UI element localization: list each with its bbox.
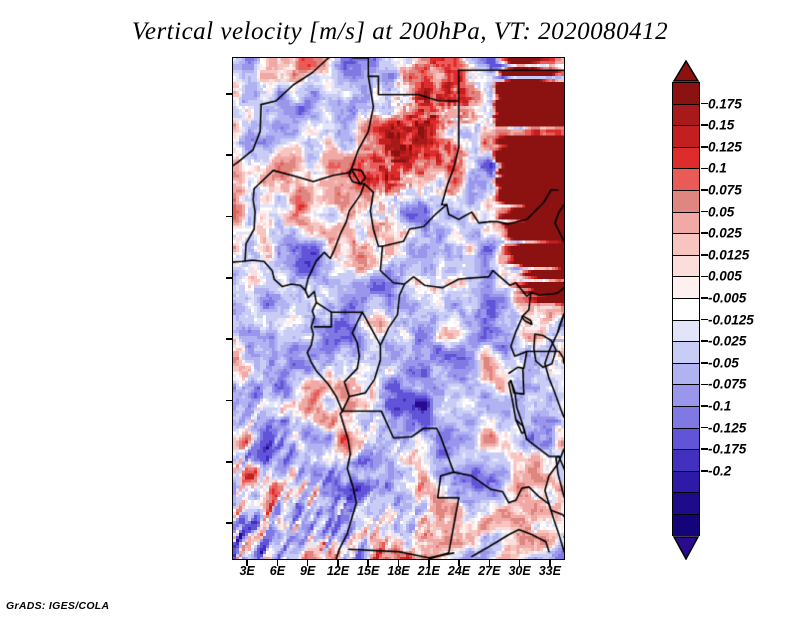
colorbar-tick-label: 0.075: [708, 183, 742, 198]
colorbar-tick-label: -0.005: [708, 291, 746, 306]
x-axis-tick-label: 21E: [418, 564, 440, 578]
x-axis-tick-label: 27E: [478, 564, 500, 578]
colorbar-tick-label: 0.15: [708, 118, 734, 133]
colorbar-tick-mark: [701, 405, 708, 407]
colorbar-tick-mark: [701, 448, 708, 450]
colorbar-tick-mark: [701, 276, 708, 278]
y-axis-tick-mark: [226, 400, 232, 402]
colorbar-tick-mark: [701, 124, 708, 126]
country-borders-overlay: [233, 58, 564, 559]
x-axis-tick-mark: [458, 560, 460, 566]
x-axis-tick-mark: [246, 560, 248, 566]
colorbar-tick-mark: [701, 254, 708, 256]
colorbar-tick-label: 0.05: [708, 204, 734, 219]
y-axis-tick-mark: [226, 93, 232, 95]
colorbar-swatch: [673, 234, 699, 256]
x-axis-tick-mark: [398, 560, 400, 566]
colorbar-tick-mark: [701, 384, 708, 386]
colorbar-swatch: [673, 126, 699, 148]
colorbar-swatch: [673, 450, 699, 472]
x-axis-tick-mark: [428, 560, 430, 566]
colorbar-tick-mark: [701, 427, 708, 429]
colorbar-tick-label: 0.025: [708, 226, 742, 241]
x-axis-tick-label: 6E: [270, 564, 285, 578]
x-axis-tick-label: 30E: [508, 564, 530, 578]
colorbar-swatch: [673, 213, 699, 235]
x-axis-tick-mark: [519, 560, 521, 566]
colorbar-tick-label: 0.175: [708, 96, 742, 111]
colorbar-tick-label: 0.0125: [708, 247, 749, 262]
x-axis-tick-mark: [549, 560, 551, 566]
colorbar-swatch: [673, 472, 699, 494]
colorbar-tick-mark: [701, 470, 708, 472]
colorbar-swatch: [673, 256, 699, 278]
attribution-footer: GrADS: IGES/COLA: [6, 600, 109, 612]
y-axis-tick-mark: [226, 154, 232, 156]
x-axis-tick-label: 3E: [239, 564, 254, 578]
colorbar-swatch: [673, 429, 699, 451]
colorbar-swatch: [673, 321, 699, 343]
colorbar-tick-mark: [701, 232, 708, 234]
colorbar-swatch: [673, 277, 699, 299]
colorbar-tick-mark: [701, 362, 708, 364]
colorbar-swatch: [673, 191, 699, 213]
colorbar-tick-label: -0.05: [708, 355, 739, 370]
colorbar-tick-label: -0.2: [708, 463, 731, 478]
colorbar-swatch: [673, 105, 699, 127]
x-axis-tick-label: 18E: [387, 564, 409, 578]
colorbar-tick-mark: [701, 297, 708, 299]
colorbar-tick-mark: [701, 211, 708, 213]
colorbar-tick-mark: [701, 340, 708, 342]
colorbar-tick-label: -0.175: [708, 442, 746, 457]
colorbar-tick-label: -0.025: [708, 334, 746, 349]
x-axis-tick-mark: [367, 560, 369, 566]
colorbar-swatch: [673, 169, 699, 191]
x-axis-tick-label: 9E: [300, 564, 315, 578]
y-axis-tick-mark: [226, 216, 232, 218]
colorbar-max-arrow: [672, 60, 700, 82]
colorbar-tick-label: -0.075: [708, 377, 746, 392]
colorbar-swatch: [673, 299, 699, 321]
colorbar-swatches: [672, 82, 700, 536]
page-title: Vertical velocity [m/s] at 200hPa, VT: 2…: [0, 18, 800, 46]
colorbar-swatch: [673, 407, 699, 429]
colorbar: [672, 60, 700, 558]
colorbar-tick-label: 0.125: [708, 139, 742, 154]
colorbar-tick-label: 0.005: [708, 269, 742, 284]
y-axis-tick-mark: [226, 522, 232, 524]
colorbar-tick-mark: [701, 103, 708, 105]
y-axis-tick-mark: [226, 338, 232, 340]
colorbar-tick-mark: [701, 319, 708, 321]
colorbar-swatch: [673, 364, 699, 386]
y-axis-tick-mark: [226, 277, 232, 279]
y-axis-tick-mark: [226, 461, 232, 463]
x-axis-tick-label: 12E: [327, 564, 349, 578]
colorbar-tick-mark: [701, 168, 708, 170]
colorbar-tick-mark: [701, 189, 708, 191]
x-axis-tick-mark: [277, 560, 279, 566]
map-plot-area: [232, 57, 565, 560]
colorbar-tick-label: 0.1: [708, 161, 727, 176]
x-axis-tick-label: 15E: [357, 564, 379, 578]
colorbar-tick-label: -0.1: [708, 399, 731, 414]
x-axis-tick-label: 33E: [539, 564, 561, 578]
colorbar-min-arrow: [672, 536, 700, 558]
colorbar-swatch: [673, 342, 699, 364]
x-axis-tick-mark: [489, 560, 491, 566]
colorbar-swatch: [673, 515, 699, 537]
x-axis-tick-mark: [307, 560, 309, 566]
colorbar-tick-label: -0.125: [708, 420, 746, 435]
x-axis-tick-mark: [337, 560, 339, 566]
colorbar-swatch: [673, 385, 699, 407]
colorbar-tick-mark: [701, 146, 708, 148]
x-axis-tick-label: 24E: [448, 564, 470, 578]
colorbar-tick-label: -0.0125: [708, 312, 754, 327]
colorbar-swatch: [673, 493, 699, 515]
colorbar-swatch: [673, 83, 699, 105]
colorbar-swatch: [673, 148, 699, 170]
